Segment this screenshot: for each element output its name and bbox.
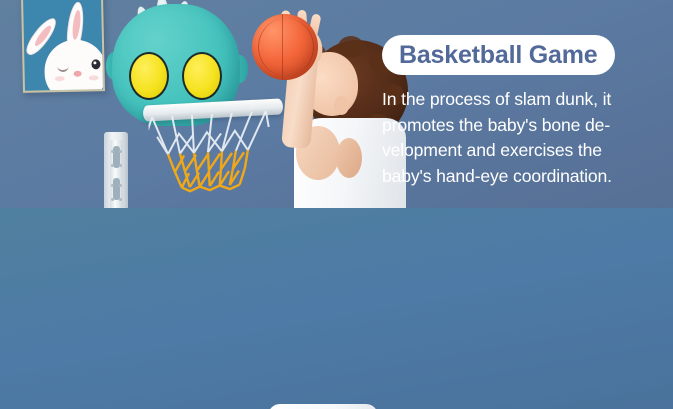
rabbit-poster-art: [23, 0, 103, 91]
rabbit-eye-open: [91, 59, 100, 69]
basketball-description: In the process of slam dunk, it promotes…: [382, 87, 652, 189]
pole-screw: [111, 164, 114, 167]
rabbit-ear-inner: [33, 24, 54, 48]
backboard-eye-right: [182, 52, 222, 100]
pole-slot: [113, 178, 120, 200]
child-ear: [334, 96, 349, 115]
pole-screw: [111, 184, 114, 187]
rabbit-head-icon: [44, 39, 103, 91]
rabbit-ear-inner: [71, 10, 82, 41]
panel-basketball: Basketball Game In the process of slam d…: [0, 0, 673, 208]
panel-football: ★ ★ Football G: [0, 208, 673, 409]
child-armhole-shadow: [336, 138, 362, 178]
rabbit-cheek-left: [55, 76, 65, 81]
pole-screw: [111, 198, 114, 201]
basketball-stand-pole-inner: [110, 140, 123, 208]
basketball-title-pill: Basketball Game: [382, 35, 615, 75]
product-feature-banner: Basketball Game In the process of slam d…: [0, 0, 673, 409]
pole-screw: [119, 184, 122, 187]
pole-screw: [119, 198, 122, 201]
rabbit-eye-wink: [57, 65, 68, 72]
rabbit-cheek-right: [89, 75, 99, 80]
orange-basketball: [252, 14, 318, 80]
child-tshirt: [268, 404, 378, 409]
pole-screw: [119, 164, 122, 167]
pole-screw: [119, 150, 122, 153]
basketball-seam: [258, 18, 314, 76]
wall-poster-frame: [21, 0, 105, 93]
backboard-eye-left: [129, 52, 169, 100]
basketball-text-column: Basketball Game In the process of slam d…: [382, 35, 652, 189]
rabbit-nose: [74, 71, 82, 77]
pole-screw: [111, 150, 114, 153]
